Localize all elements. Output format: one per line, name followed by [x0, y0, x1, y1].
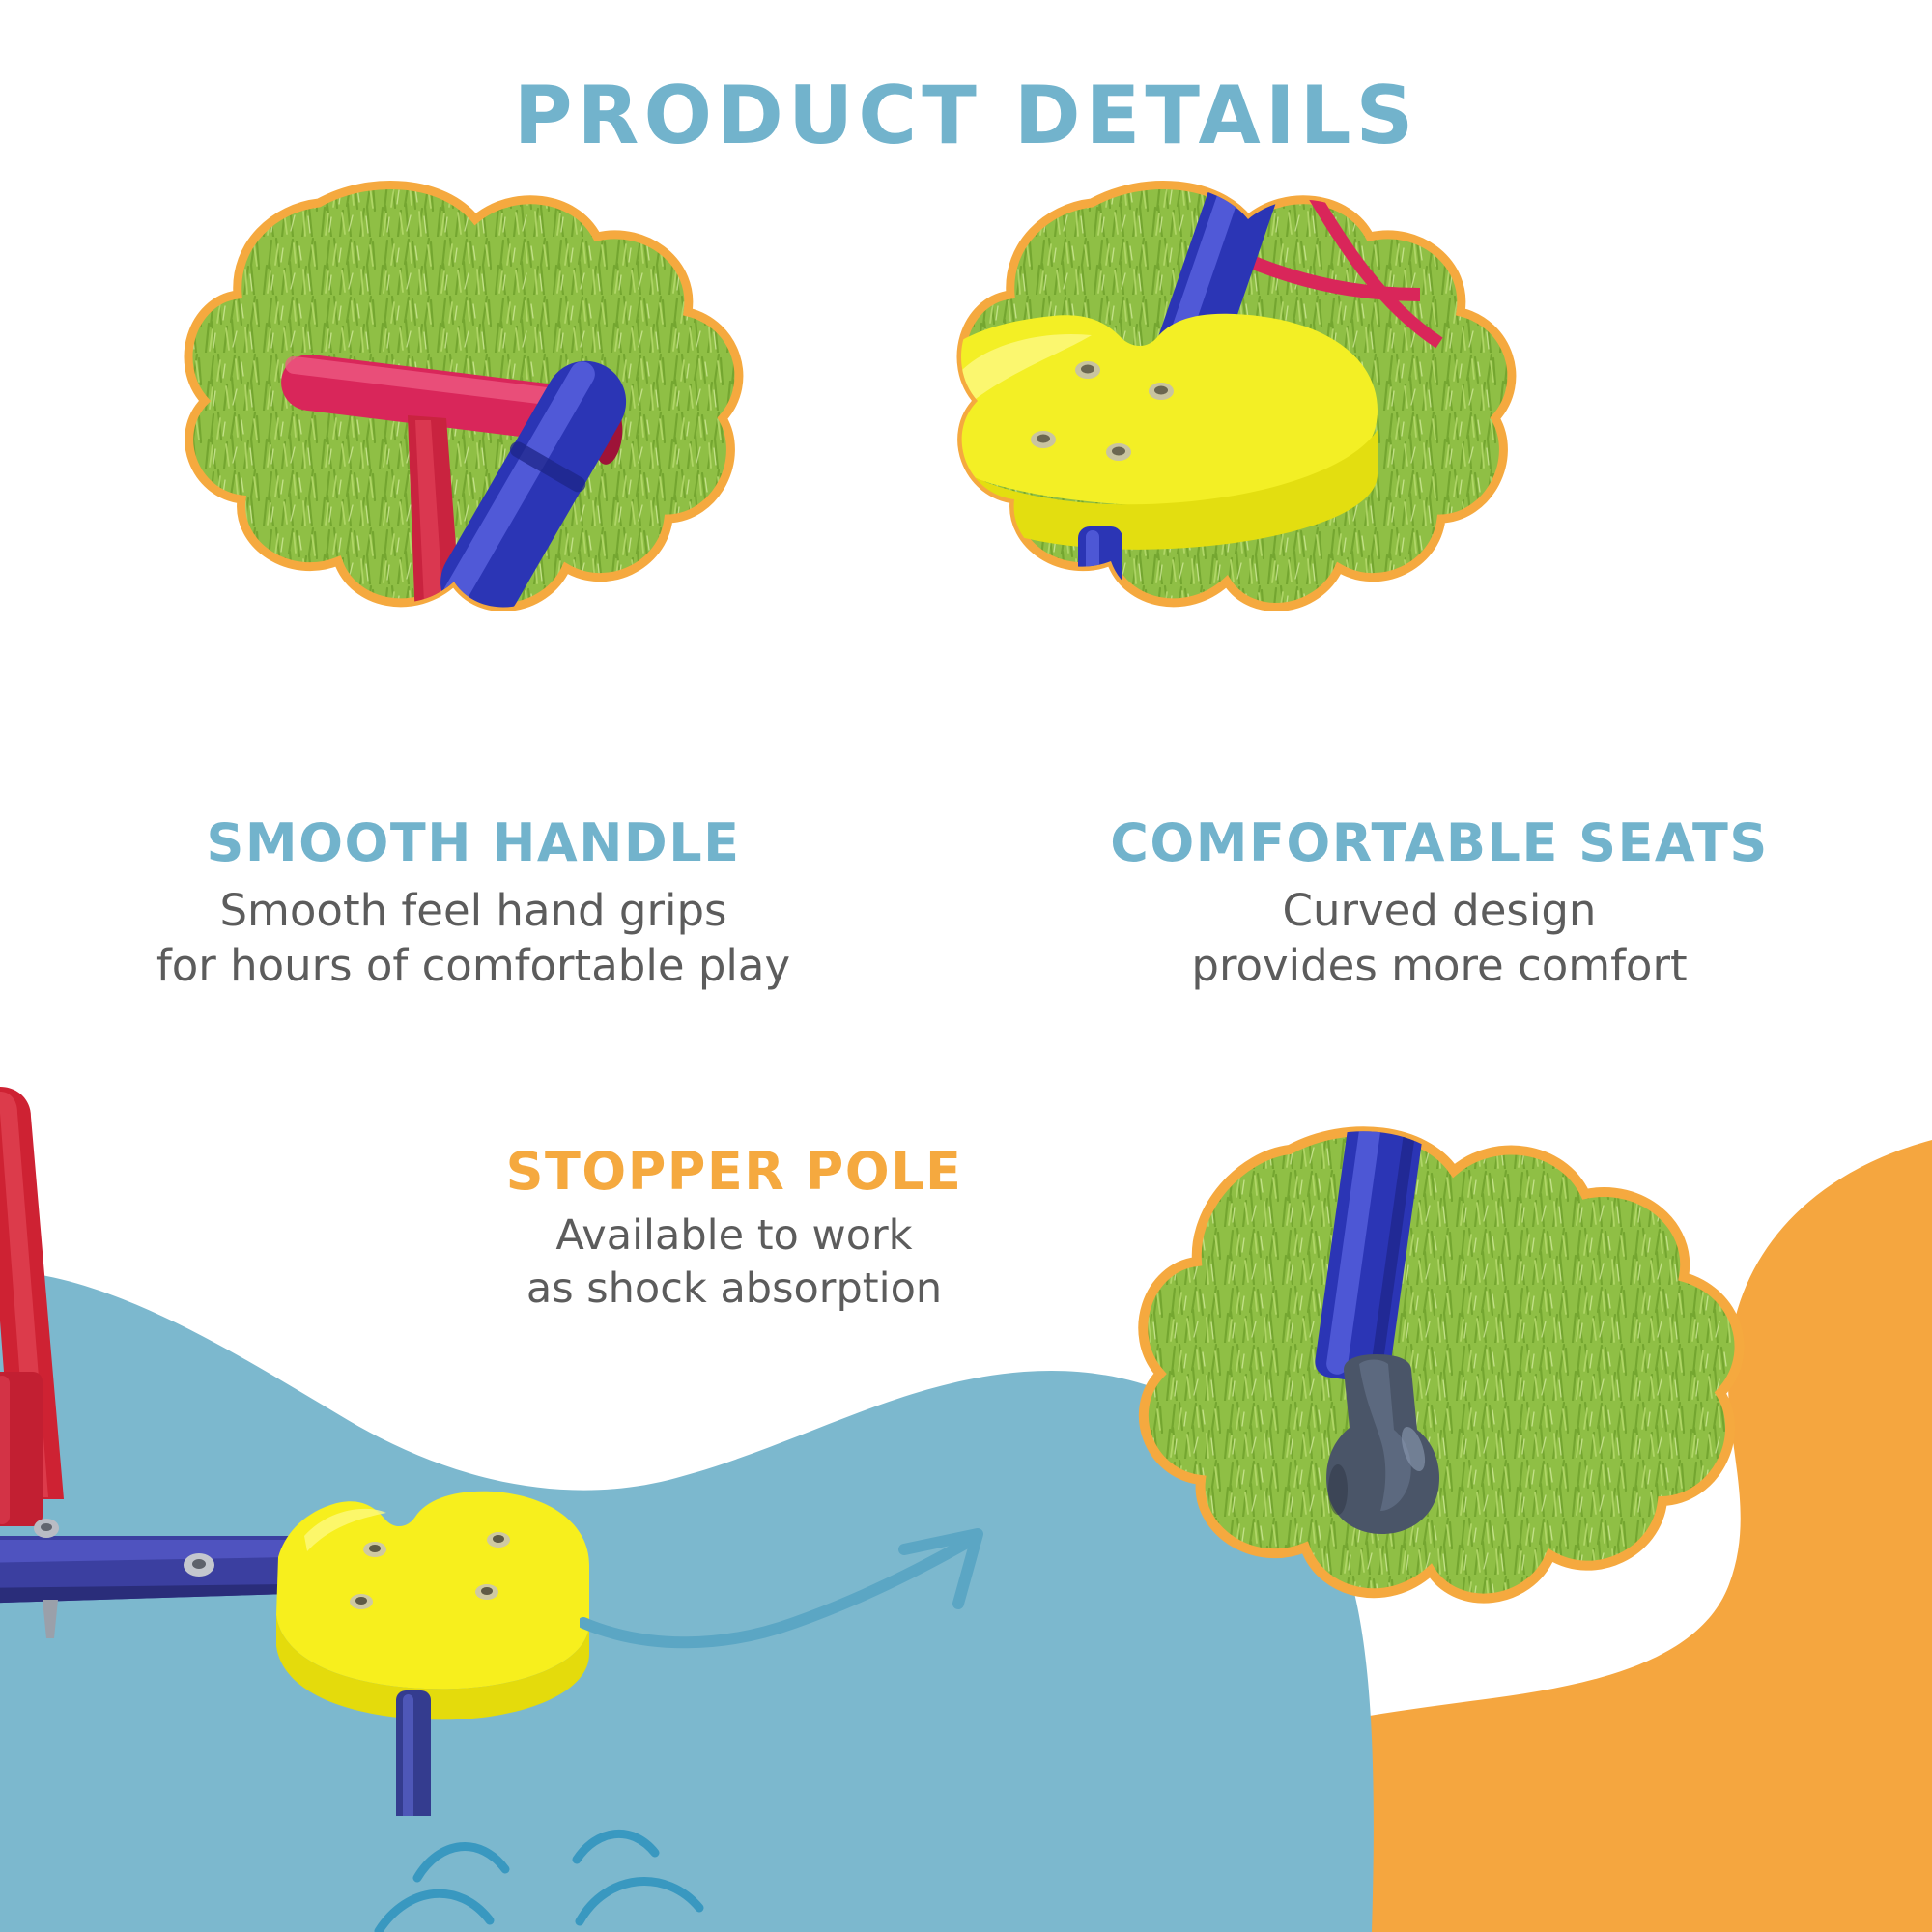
stopper-pole: [396, 1690, 431, 1816]
infographic-canvas: PRODUCT DETAILS SMOOTH HANDLE Smooth fee…: [0, 0, 1932, 1932]
feature-smooth-handle: SMOOTH HANDLE Smooth feel hand grips for…: [58, 816, 889, 994]
ground-stakes: [0, 1600, 58, 1640]
yellow-seat: [276, 1492, 589, 1720]
feature-title-smooth-handle: SMOOTH HANDLE: [58, 816, 889, 871]
feature-description-smooth-handle: Smooth feel hand grips for hours of comf…: [58, 883, 889, 994]
curved-arrow-icon: [580, 1478, 1043, 1662]
feature-stopper-pole: STOPPER POLE Available to work as shock …: [425, 1145, 1043, 1316]
photo-frame-stopper-pole: [1048, 1111, 1811, 1826]
feature-title-comfortable-seats: COMFORTABLE SEATS: [1024, 816, 1855, 871]
feature-comfortable-seats: COMFORTABLE SEATS Curved design provides…: [1024, 816, 1855, 994]
feature-description-stopper-pole: Available to work as shock absorption: [425, 1209, 1043, 1316]
feature-description-comfortable-seats: Curved design provides more comfort: [1024, 883, 1855, 994]
blue-frame-beam: [0, 1536, 290, 1604]
page-title: PRODUCT DETAILS: [0, 75, 1932, 156]
photo-frame-comfortable-seats: [916, 120, 1512, 633]
photo-frame-smooth-handle: [188, 185, 739, 639]
red-support-post: [0, 1372, 43, 1526]
feature-title-stopper-pole: STOPPER POLE: [425, 1145, 1043, 1200]
